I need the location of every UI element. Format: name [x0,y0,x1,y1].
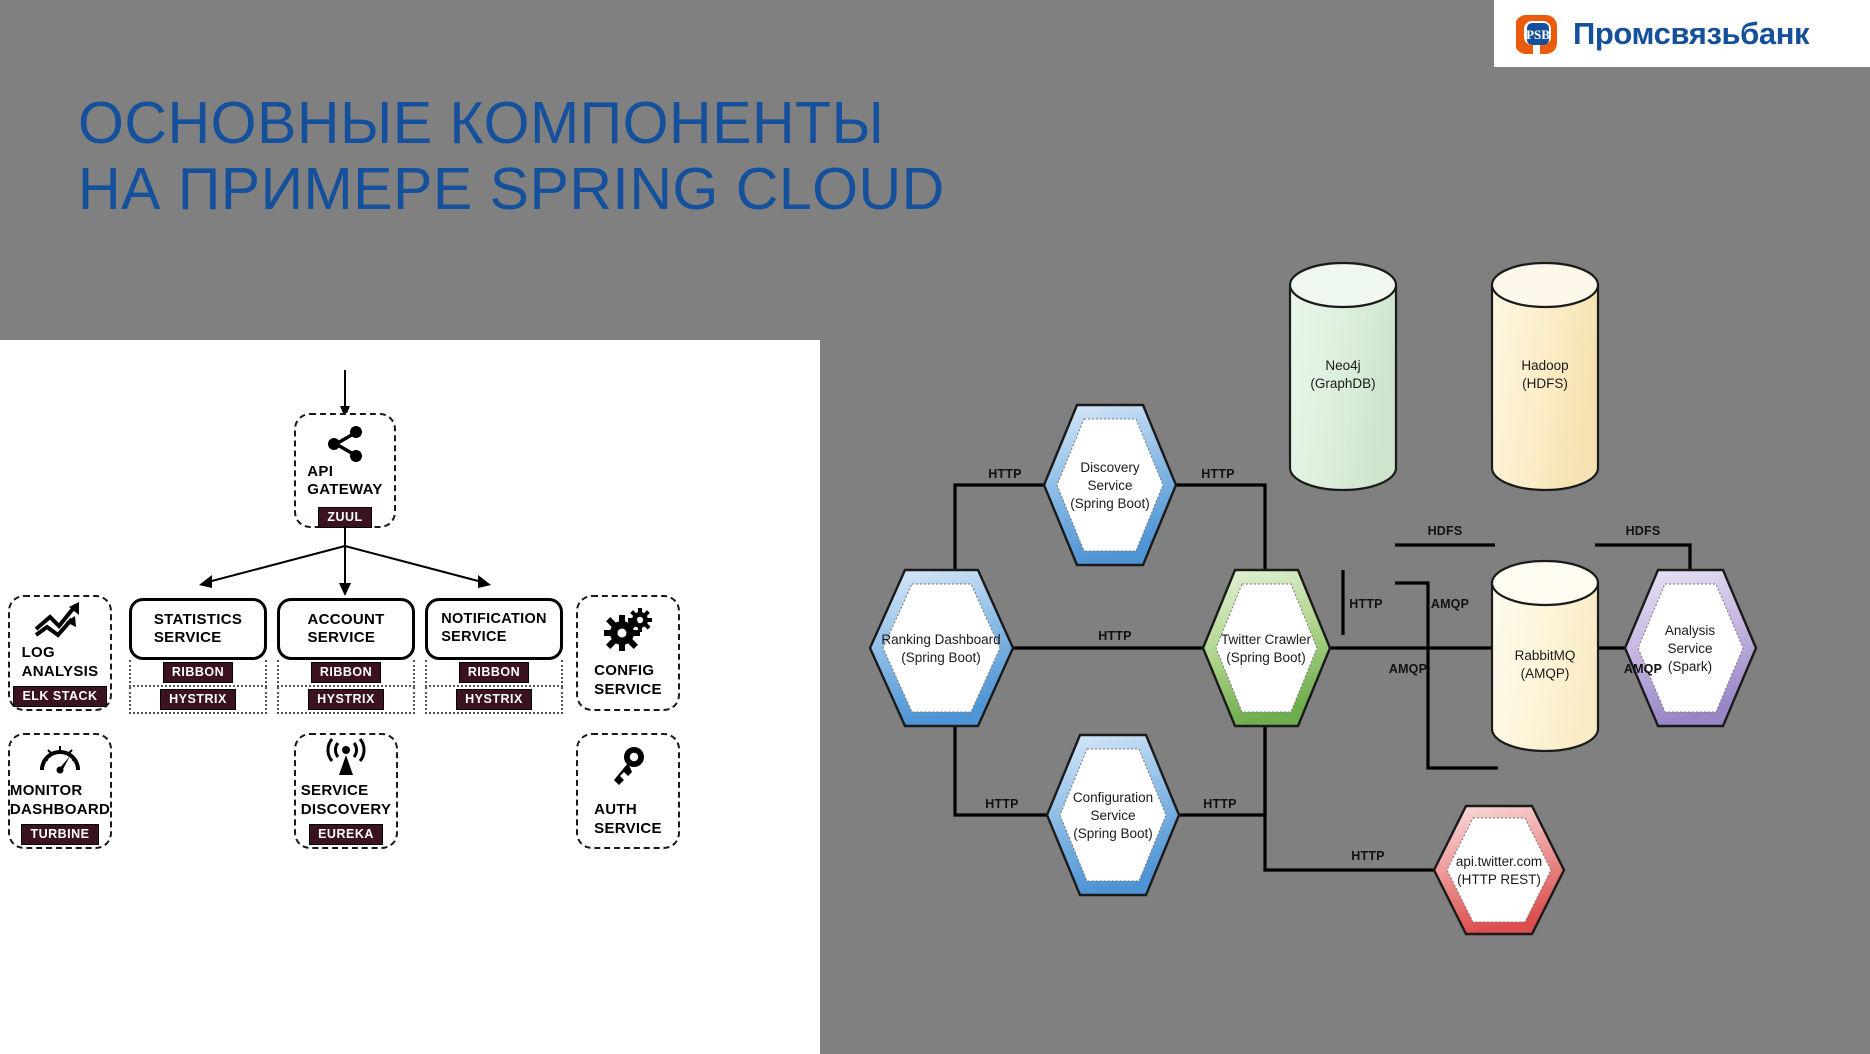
monitor-dashboard-node: MONITOR DASHBOARD TURBINE [8,733,112,849]
elk-stack-badge: ELK STACK [13,686,106,707]
config-service-node: CONFIG SERVICE [576,595,680,711]
edge-label-hadoop-analysis: HDFS [1626,524,1661,538]
discovery-label-line1: Discovery [1080,460,1140,475]
logo-wordmark: Промсвязьбанк [1573,16,1809,52]
broadcast-tower-icon [321,737,371,777]
edge-label-crawler-twitterapi: HTTP [1351,849,1384,863]
brand-logo: PSB Промсвязьбанк [1494,0,1870,67]
edge-label-config-crawler: HTTP [1203,797,1236,811]
edge-label-neo4j-rabbitmq: AMQP [1431,597,1469,611]
config-label-line1: Configuration [1073,790,1153,805]
zuul-badge: ZUUL [318,507,371,528]
edge-label-neo4j-crawler: HTTP [1349,597,1382,611]
monitor-dashboard-label: MONITOR DASHBOARD [10,782,110,819]
edge-label-rabbitmq-analysis: AMQP [1624,662,1662,676]
statistics-hystrix-band: HYSTRIX [129,687,267,714]
config-label-line2: Service [1090,808,1135,823]
node-api-twitter-com[interactable]: api.twitter.com (HTTP REST) [1434,806,1564,934]
auth-service-label: AUTH SERVICE [594,801,662,838]
analysis-label-line2: Service [1667,641,1712,656]
edge-label-discovery-crawler: HTTP [1201,467,1234,481]
turbine-badge: TURBINE [21,824,98,845]
edge-label-ranking-crawler: HTTP [1098,629,1131,643]
notification-service-node: NOTIFICATION SERVICE [425,598,563,660]
statistics-service-node: STATISTICS SERVICE [129,598,267,660]
spring-cloud-components-panel: CLIENT API GATEWAY ZUU [0,340,820,1054]
config-service-label: CONFIG SERVICE [594,662,662,699]
line-chart-icon [32,599,88,639]
node-neo4j[interactable]: Neo4j (GraphDB) [1290,263,1396,490]
twitter-crawler-architecture-diagram: Ranking Dashboard (Spring Boot) Discover… [850,240,1860,940]
node-ranking-dashboard[interactable]: Ranking Dashboard (Spring Boot) [870,570,1013,726]
psb-logo-mark: PSB [1516,12,1560,56]
node-analysis-service[interactable]: Analysis Service (Spark) [1625,570,1756,726]
edge-label-crawler-rabbitmq: AMQP [1389,662,1427,676]
crawler-label-line2: (Spring Boot) [1226,650,1306,665]
service-discovery-node: SERVICE DISCOVERY EUREKA [294,733,398,849]
auth-service-node: AUTH SERVICE [576,733,680,849]
hystrix-badge: HYSTRIX [160,689,236,710]
statistics-service-label: STATISTICS SERVICE [154,611,242,648]
analysis-label-line1: Analysis [1665,623,1716,638]
node-configuration-service[interactable]: Configuration Service (Spring Boot) [1047,735,1179,895]
ribbon-badge: RIBBON [311,662,381,683]
twitterapi-label-line2: (HTTP REST) [1457,872,1541,887]
hystrix-badge: HYSTRIX [456,689,532,710]
key-icon [606,744,650,790]
crawler-label-line1: Twitter Crawler [1221,632,1312,647]
node-twitter-crawler[interactable]: Twitter Crawler (Spring Boot) [1203,570,1330,726]
rabbitmq-label-line1: RabbitMQ [1515,648,1576,663]
svg-text:PSB: PSB [1526,27,1550,42]
gateway-fanout-connectors [120,526,600,604]
gauge-icon [37,737,83,777]
notification-ribbon-band: RIBBON [425,660,563,687]
ribbon-badge: RIBBON [163,662,233,683]
architecture-svg: Ranking Dashboard (Spring Boot) Discover… [850,240,1860,940]
neo4j-label-line2: (GraphDB) [1310,376,1375,391]
hadoop-label-line2: (HDFS) [1522,376,1568,391]
account-ribbon-band: RIBBON [277,660,415,687]
statistics-ribbon-band: RIBBON [129,660,267,687]
account-service-node: ACCOUNT SERVICE [277,598,415,660]
hystrix-badge: HYSTRIX [308,689,384,710]
hadoop-label-line1: Hadoop [1521,358,1568,373]
account-hystrix-band: HYSTRIX [277,687,415,714]
neo4j-label-line1: Neo4j [1325,358,1360,373]
discovery-label-line2: Service [1087,478,1132,493]
service-discovery-label: SERVICE DISCOVERY [301,782,392,819]
title-line-1: ОСНОВНЫЕ КОМПОНЕНТЫ [78,90,1278,156]
node-rabbitmq[interactable]: RabbitMQ (AMQP) [1492,561,1598,751]
rabbitmq-label-line2: (AMQP) [1521,666,1570,681]
notification-service-label: NOTIFICATION SERVICE [441,611,547,646]
analysis-label-line3: (Spark) [1668,659,1712,674]
log-analysis-node: LOG ANALYSIS ELK STACK [8,595,112,711]
page-title: ОСНОВНЫЕ КОМПОНЕНТЫ НА ПРИМЕРЕ SPRING CL… [78,90,1278,222]
edge-label-neo4j-hadoop: HDFS [1428,524,1463,538]
gears-icon [603,607,653,651]
api-gateway-node: API GATEWAY ZUUL [294,413,396,528]
slide-canvas: PSB Промсвязьбанк ОСНОВНЫЕ КОМПОНЕНТЫ НА… [0,0,1870,1054]
edge-label-ranking-config: HTTP [985,797,1018,811]
node-discovery-service[interactable]: Discovery Service (Spring Boot) [1044,405,1176,565]
edge-label-ranking-discovery: HTTP [988,467,1021,481]
api-gateway-label: API GATEWAY [307,463,382,500]
share-nodes-icon [325,425,365,463]
ribbon-badge: RIBBON [459,662,529,683]
twitterapi-label-line1: api.twitter.com [1456,854,1542,869]
log-analysis-label: LOG ANALYSIS [22,644,99,681]
discovery-label-line3: (Spring Boot) [1070,496,1150,511]
ranking-label-line2: (Spring Boot) [901,650,981,665]
ranking-label-line1: Ranking Dashboard [881,632,1000,647]
eureka-badge: EUREKA [309,824,383,845]
notification-hystrix-band: HYSTRIX [425,687,563,714]
config-label-line3: (Spring Boot) [1073,826,1153,841]
account-service-label: ACCOUNT SERVICE [307,611,384,648]
title-line-2: НА ПРИМЕРЕ SPRING CLOUD [78,156,1278,222]
node-hadoop[interactable]: Hadoop (HDFS) [1492,263,1598,490]
